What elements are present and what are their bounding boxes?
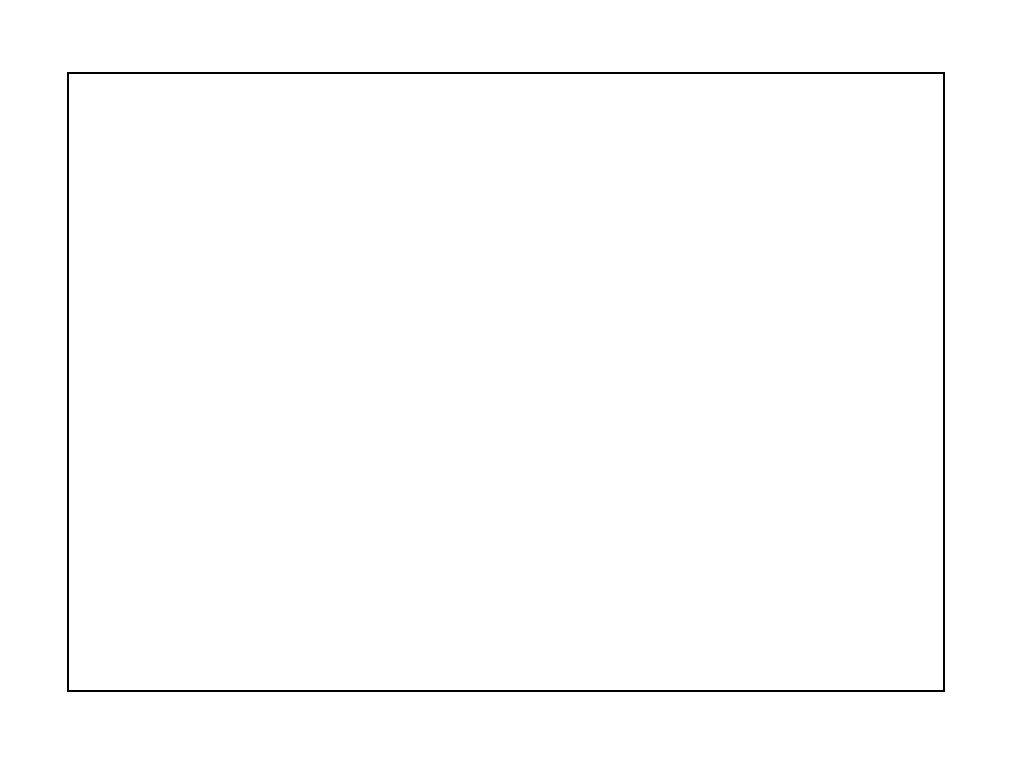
omega-shaded-field (69, 74, 943, 690)
forecast-cross-section-plot (67, 72, 945, 692)
